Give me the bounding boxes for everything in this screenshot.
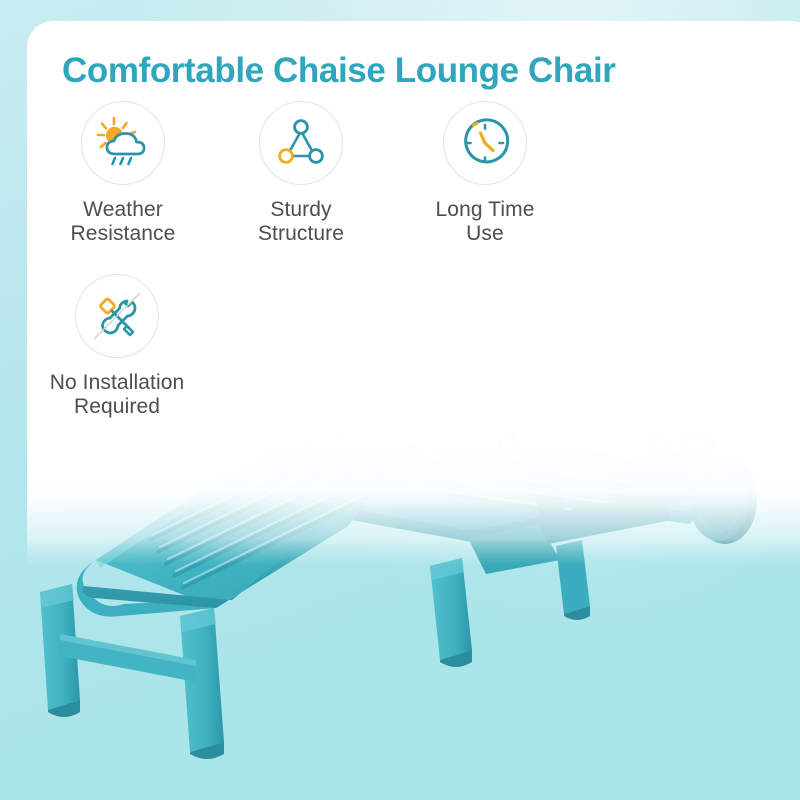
clock-icon bbox=[458, 116, 512, 170]
feature-label: Sturdy Structure bbox=[206, 198, 396, 245]
feature-icon-circle bbox=[81, 101, 165, 185]
feature-sturdy-structure: Sturdy Structure bbox=[206, 101, 396, 245]
feature-long-time-use: Long Time Use bbox=[390, 101, 580, 245]
clock-rim bbox=[466, 120, 508, 162]
feature-weather-resistance: Weather Resistance bbox=[28, 101, 218, 245]
feature-label: Weather Resistance bbox=[28, 198, 218, 245]
node-top bbox=[295, 121, 308, 134]
feature-label: Long Time Use bbox=[390, 198, 580, 245]
clock-rim-accent bbox=[474, 123, 478, 125]
triangle-nodes-icon bbox=[275, 118, 327, 168]
node-left bbox=[280, 150, 293, 163]
feature-icon-circle bbox=[259, 101, 343, 185]
rain-drops bbox=[113, 158, 132, 164]
node-right bbox=[310, 150, 323, 163]
legs bbox=[40, 540, 590, 759]
feature-icon-circle bbox=[75, 274, 159, 358]
feature-no-installation-required: No Installation Required bbox=[22, 274, 212, 418]
feature-label: No Installation Required bbox=[22, 371, 212, 418]
sun-cloud-rain-icon bbox=[95, 116, 151, 170]
screwdriver-wrench-crossed-icon bbox=[89, 288, 145, 344]
screwdriver-tip bbox=[124, 326, 133, 335]
product-marketing-image: Comfortable Chaise Lounge Chair bbox=[0, 0, 800, 800]
page-title: Comfortable Chaise Lounge Chair bbox=[62, 51, 616, 91]
clock-hands bbox=[481, 133, 494, 151]
feature-icon-circle bbox=[443, 101, 527, 185]
